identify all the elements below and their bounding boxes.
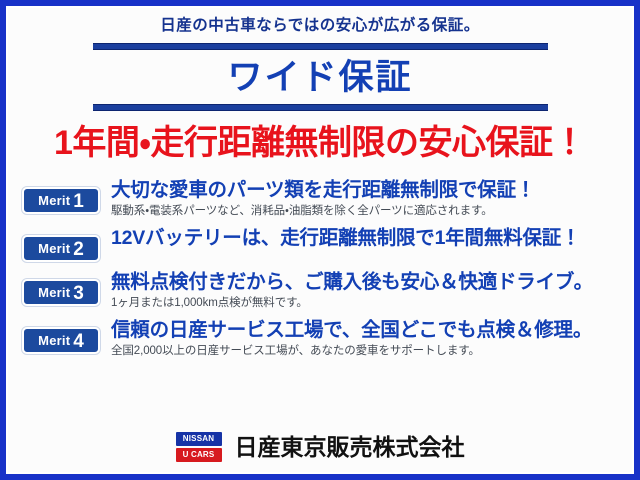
merit-heading: 信頼の日産サービス工場で、全国どこでも点検＆修理。 [111,319,624,342]
merit-item-3: Merit 3 無料点検付きだから、ご購入後も安心＆快適ドライブ。 1ヶ月または… [22,271,624,315]
footer: NISSAN U CARS 日産東京販売株式会社 [8,432,632,462]
merit-heading: 無料点検付きだから、ご購入後も安心＆快適ドライブ。 [111,271,624,294]
header-lead-text: 日産の中古車ならではの安心が広がる保証。 [8,8,632,34]
merit-item-2: Merit 2 12Vバッテリーは、走行距離無制限で1年間無料保証！ [22,227,624,267]
merit-badge-number: 2 [73,240,84,259]
merit-text-3: 無料点検付きだから、ご購入後も安心＆快適ドライブ。 1ヶ月または1,000km点… [111,271,624,310]
main-headline: 1年間・走行距離無制限の安心保証！ [8,126,632,160]
merit-item-4: Merit 4 信頼の日産サービス工場で、全国どこでも点検＆修理。 全国2,00… [22,319,624,363]
merit-text-2: 12Vバッテリーは、走行距離無制限で1年間無料保証！ [111,227,624,250]
merit-badge-word: Merit [38,194,70,207]
merit-badge-number: 1 [73,192,84,211]
nissan-ucars-logo-icon: NISSAN U CARS [176,432,222,462]
divider-bottom [93,104,548,111]
merit-item-1: Merit 1 大切な愛車のパーツ類を走行距離無制限で保証！ 駆動系・電装系パー… [22,179,624,223]
merit-subtext: 駆動系・電装系パーツなど、消耗品・油脂類を除く全パーツに適応されます。 [111,204,624,218]
merit-text-4: 信頼の日産サービス工場で、全国どこでも点検＆修理。 全国2,000以上の日産サー… [111,319,624,358]
merit-badge-1: Merit 1 [22,187,100,214]
divider-top [93,43,548,50]
merit-badge-number: 4 [73,332,84,351]
merit-heading: 大切な愛車のパーツ類を走行距離無制限で保証！ [111,179,624,202]
merit-badge-3: Merit 3 [22,279,100,306]
merit-badge-word: Merit [38,242,70,255]
merit-subtext: 1ヶ月または1,000km点検が無料です。 [111,296,624,310]
company-name: 日産東京販売株式会社 [235,436,465,459]
logo-ucars-text: U CARS [176,448,222,462]
merit-badge-4: Merit 4 [22,327,100,354]
merit-badge-word: Merit [38,286,70,299]
merit-text-1: 大切な愛車のパーツ類を走行距離無制限で保証！ 駆動系・電装系パーツなど、消耗品・… [111,179,624,218]
logo-nissan-text: NISSAN [176,432,222,446]
merit-list: Merit 1 大切な愛車のパーツ類を走行距離無制限で保証！ 駆動系・電装系パー… [8,179,632,363]
merit-subtext: 全国2,000以上の日産サービス工場が、あなたの愛車をサポートします。 [111,344,624,358]
merit-badge-number: 3 [73,284,84,303]
poster-content: 日産の中古車ならではの安心が広がる保証。 ワイド保証 1年間・走行距離無制限の安… [8,8,632,472]
page-title: ワイド保証 [8,60,632,95]
merit-badge-word: Merit [38,334,70,347]
warranty-poster: 日産の中古車ならではの安心が広がる保証。 ワイド保証 1年間・走行距離無制限の安… [0,0,640,480]
merit-badge-2: Merit 2 [22,235,100,262]
merit-heading: 12Vバッテリーは、走行距離無制限で1年間無料保証！ [111,227,624,250]
